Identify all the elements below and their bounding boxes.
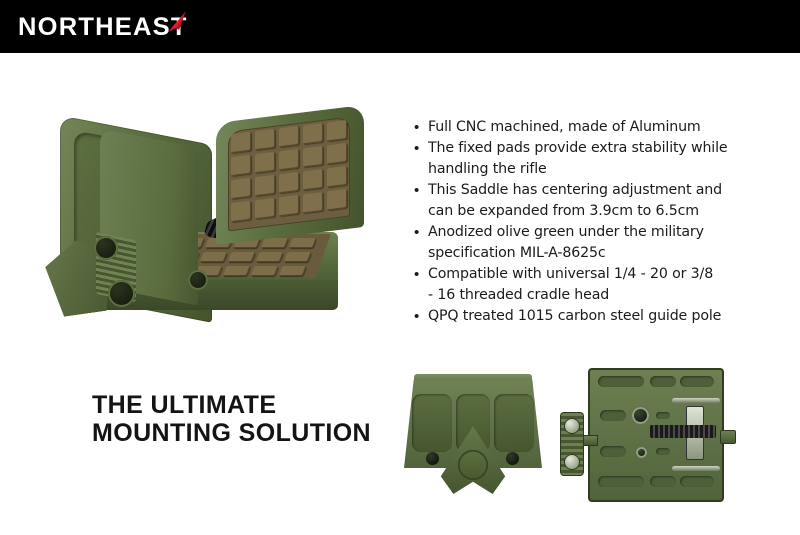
bullet-glyph: • [414, 117, 428, 138]
top-end-nub [720, 430, 736, 444]
front-view-image [396, 368, 551, 503]
top-guide-rod-upper [672, 398, 720, 403]
feature-text: Compatible with universal 1/4 - 20 or 3/… [428, 264, 734, 306]
top-bore-small [636, 447, 647, 458]
top-threaded-screw [650, 425, 716, 438]
feature-text: This Saddle has centering adjustment and… [428, 180, 734, 222]
top-bore-large [632, 407, 649, 424]
header-bar: NORTHEAST [0, 0, 800, 53]
top-keyhole-upper [600, 410, 626, 421]
top-keyhole-lower [600, 446, 626, 457]
top-slot-6 [680, 476, 714, 487]
feature-text: QPQ treated 1015 carbon steel guide pole [428, 306, 734, 327]
hero-right-jaw-pad [228, 117, 350, 232]
bullet-glyph: • [414, 222, 428, 243]
top-notch-upper [656, 412, 670, 419]
red-arrow-icon [159, 10, 189, 42]
top-slot-2 [650, 376, 676, 387]
hero-product-image [38, 112, 368, 337]
top-slot-1 [598, 376, 644, 387]
top-notch-lower [656, 448, 670, 455]
front-knob-bore [458, 450, 488, 480]
feature-text: Full CNC machined, made of Aluminum [428, 117, 734, 138]
marketing-page: NORTHEAST • Full CNC machined, made of A… [0, 0, 800, 535]
front-hole-left [426, 452, 439, 465]
feature-text: The fixed pads provide extra stability w… [428, 138, 734, 180]
brand-logo: NORTHEAST [18, 9, 208, 43]
top-guide-rod-lower [672, 466, 720, 471]
top-slot-3 [680, 376, 714, 387]
list-item: • Compatible with universal 1/4 - 20 or … [414, 264, 734, 306]
list-item: • Full CNC machined, made of Aluminum [414, 117, 734, 138]
bullet-glyph: • [414, 138, 428, 159]
top-knob-hole-upper [564, 418, 580, 434]
list-item: • This Saddle has centering adjustment a… [414, 180, 734, 222]
list-item: • The fixed pads provide extra stability… [414, 138, 734, 180]
top-slot-4 [598, 476, 644, 487]
hero-bore-upper [94, 236, 118, 260]
front-hole-right [506, 452, 519, 465]
top-slot-5 [650, 476, 676, 487]
front-panel-right [494, 394, 534, 452]
hero-bore-side [188, 270, 208, 290]
list-item: • QPQ treated 1015 carbon steel guide po… [414, 306, 734, 327]
top-knob-hole-lower [564, 454, 580, 470]
top-view-image [560, 362, 745, 510]
feature-text: Anodized olive green under the military … [428, 222, 734, 264]
feature-list: • Full CNC machined, made of Aluminum • … [414, 117, 734, 327]
page-title: THE ULTIMATE MOUNTING SOLUTION [92, 391, 371, 447]
bullet-glyph: • [414, 306, 428, 327]
list-item: • Anodized olive green under the militar… [414, 222, 734, 264]
bullet-glyph: • [414, 264, 428, 285]
hero-bore-lower [108, 280, 135, 307]
front-panel-left [412, 394, 452, 452]
bullet-glyph: • [414, 180, 428, 201]
